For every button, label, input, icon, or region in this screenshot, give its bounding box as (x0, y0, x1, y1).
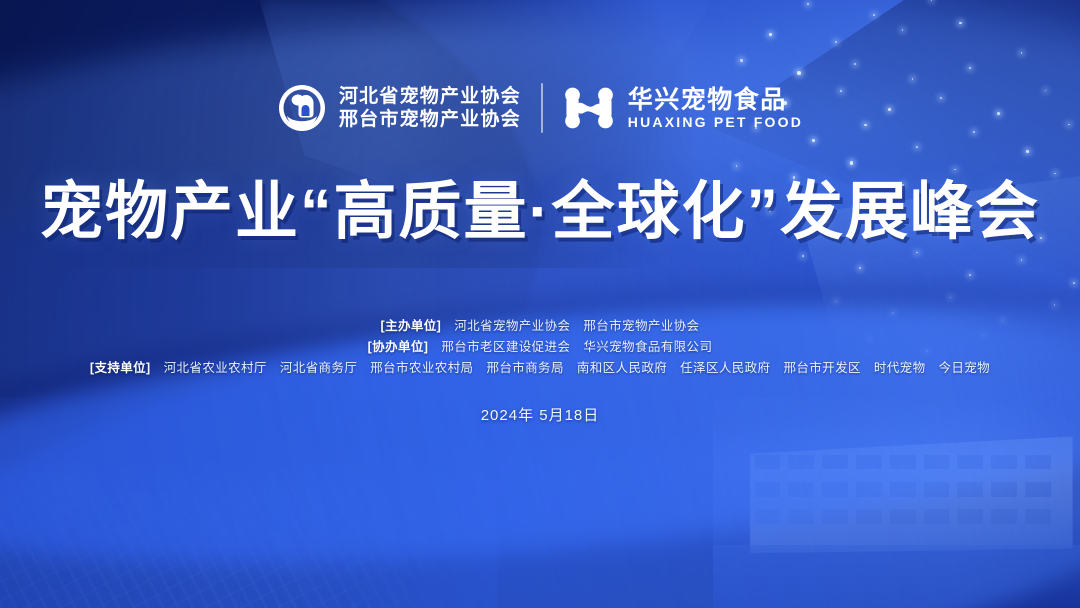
organizer-item: 时代宠物 (874, 361, 926, 375)
association-name-line-1: 河北省宠物产业协会 (339, 87, 521, 107)
organizer-line: [协办单位]邢台市老区建设促进会华兴宠物食品有限公司 (0, 337, 1080, 358)
huaxing-h-mark-icon (563, 86, 615, 130)
huaxing-name-en: HUAXING PET FOOD (628, 115, 803, 130)
poster-content: 河北省宠物产业协会 邢台市宠物产业协会 (0, 0, 1080, 608)
organizer-item: 邢台市宠物产业协会 (583, 319, 699, 333)
organizer-tag: [协办单位] (368, 340, 429, 354)
organizer-item: 南和区人民政府 (577, 361, 667, 375)
banner-poster: 河北省宠物产业协会 邢台市宠物产业协会 (0, 0, 1080, 608)
organizer-item: 今日宠物 (938, 361, 990, 375)
pet-association-emblem-icon (277, 83, 327, 133)
logo-divider (541, 83, 543, 133)
organizer-item: 河北省商务厅 (280, 361, 357, 375)
huaxing-name-cn: 华兴宠物食品 (628, 87, 803, 113)
association-name-line-2: 邢台市宠物产业协会 (339, 110, 521, 130)
association-names: 河北省宠物产业协会 邢台市宠物产业协会 (339, 87, 521, 130)
organizer-item: 邢台市开发区 (783, 361, 860, 375)
organizer-tag: [主办单位] (381, 319, 442, 333)
organizer-item: 河北省农业农村厅 (164, 361, 267, 375)
organizer-item: 邢台市老区建设促进会 (441, 340, 570, 354)
association-logo-group: 河北省宠物产业协会 邢台市宠物产业协会 (277, 83, 521, 133)
organizer-item: 任泽区人民政府 (680, 361, 770, 375)
logo-row: 河北省宠物产业协会 邢台市宠物产业协会 (0, 76, 1080, 140)
organizer-item: 邢台市商务局 (486, 361, 563, 375)
organizer-line: [主办单位]河北省宠物产业协会邢台市宠物产业协会 (0, 316, 1080, 337)
organizer-list: [主办单位]河北省宠物产业协会邢台市宠物产业协会[协办单位]邢台市老区建设促进会… (0, 316, 1080, 379)
huaxing-logo-group: 华兴宠物食品 HUAXING PET FOOD (563, 86, 803, 130)
event-date: 2024年 5月18日 (0, 404, 1080, 425)
organizer-item: 邢台市农业农村局 (370, 361, 473, 375)
organizer-tag: [支持单位] (90, 361, 151, 375)
organizer-item: 河北省宠物产业协会 (454, 319, 570, 333)
huaxing-text: 华兴宠物食品 HUAXING PET FOOD (628, 87, 803, 130)
page-title: 宠物产业“高质量·全球化”发展峰会 (0, 176, 1080, 248)
organizer-item: 华兴宠物食品有限公司 (583, 340, 712, 354)
organizer-line: [支持单位]河北省农业农村厅河北省商务厅邢台市农业农村局邢台市商务局南和区人民政… (0, 358, 1080, 379)
